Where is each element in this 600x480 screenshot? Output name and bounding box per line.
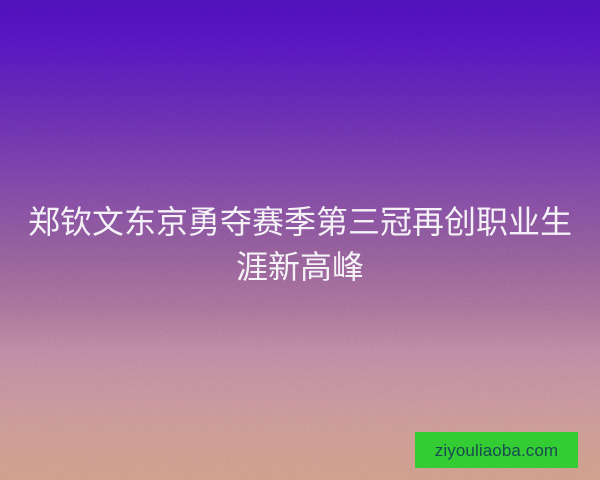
watermark-badge: ziyouliaoba.com <box>415 432 578 468</box>
watermark-site-label: ziyouliaoba.com <box>435 442 558 459</box>
page-title: 郑钦文东京勇夺赛季第三冠再创职业生涯新高峰 <box>0 200 600 290</box>
image-canvas: 郑钦文东京勇夺赛季第三冠再创职业生涯新高峰 ziyouliaoba.com <box>0 0 600 480</box>
